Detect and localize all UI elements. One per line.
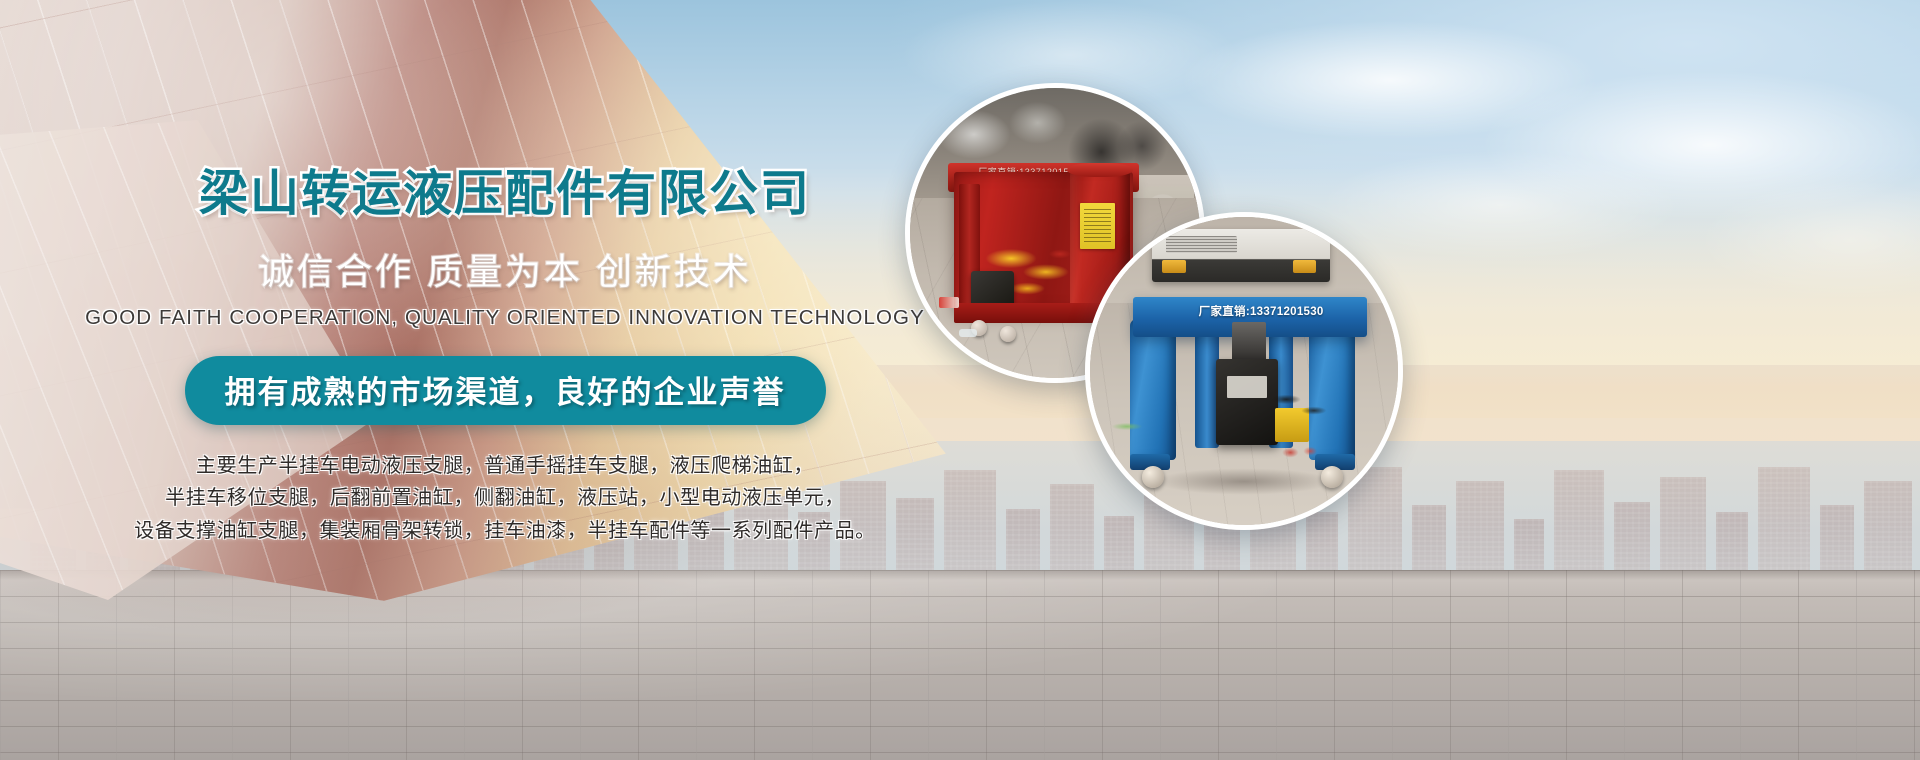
description-line: 主要生产半挂车电动液压支腿，普通手摇挂车支腿，液压爬梯油缸， (0, 450, 1010, 482)
slogan-pill-text: 拥有成熟的市场渠道，良好的企业声誉 (225, 367, 786, 412)
subtitle-english: GOOD FAITH COOPERATION, QUALITY ORIENTED… (0, 306, 1010, 330)
description-line: 设备支撑油缸支腿，集装厢骨架转锁，挂车油漆，半挂车配件等一系列配件产品。 (0, 515, 1010, 547)
company-title: 梁山转运液压配件有限公司 (0, 168, 1010, 221)
cloud (1180, 20, 1600, 140)
slogan-pill: 拥有成熟的市场渠道，良好的企业声誉 (185, 356, 826, 425)
subtitle-chinese: 诚信合作 质量为本 创新技术 (0, 243, 1010, 295)
description-line: 半挂车移位支腿，后翻前置油缸，侧翻油缸，液压站，小型电动液压单元， (0, 482, 1010, 514)
banner-text-block: 梁山转运液压配件有限公司 诚信合作 质量为本 创新技术 GOOD FAITH C… (0, 0, 1010, 640)
blue-unit-painted-text: 厂家直销:13371201530 (1199, 303, 1324, 319)
blue-hydraulic-support-unit-photo: 厂家直销:13371201530 (1085, 212, 1403, 530)
product-description: 主要生产半挂车电动液压支腿，普通手摇挂车支腿，液压爬梯油缸， 半挂车移位支腿，后… (0, 450, 1010, 547)
hero-banner: 梁山转运液压配件有限公司 诚信合作 质量为本 创新技术 GOOD FAITH C… (0, 0, 1920, 760)
